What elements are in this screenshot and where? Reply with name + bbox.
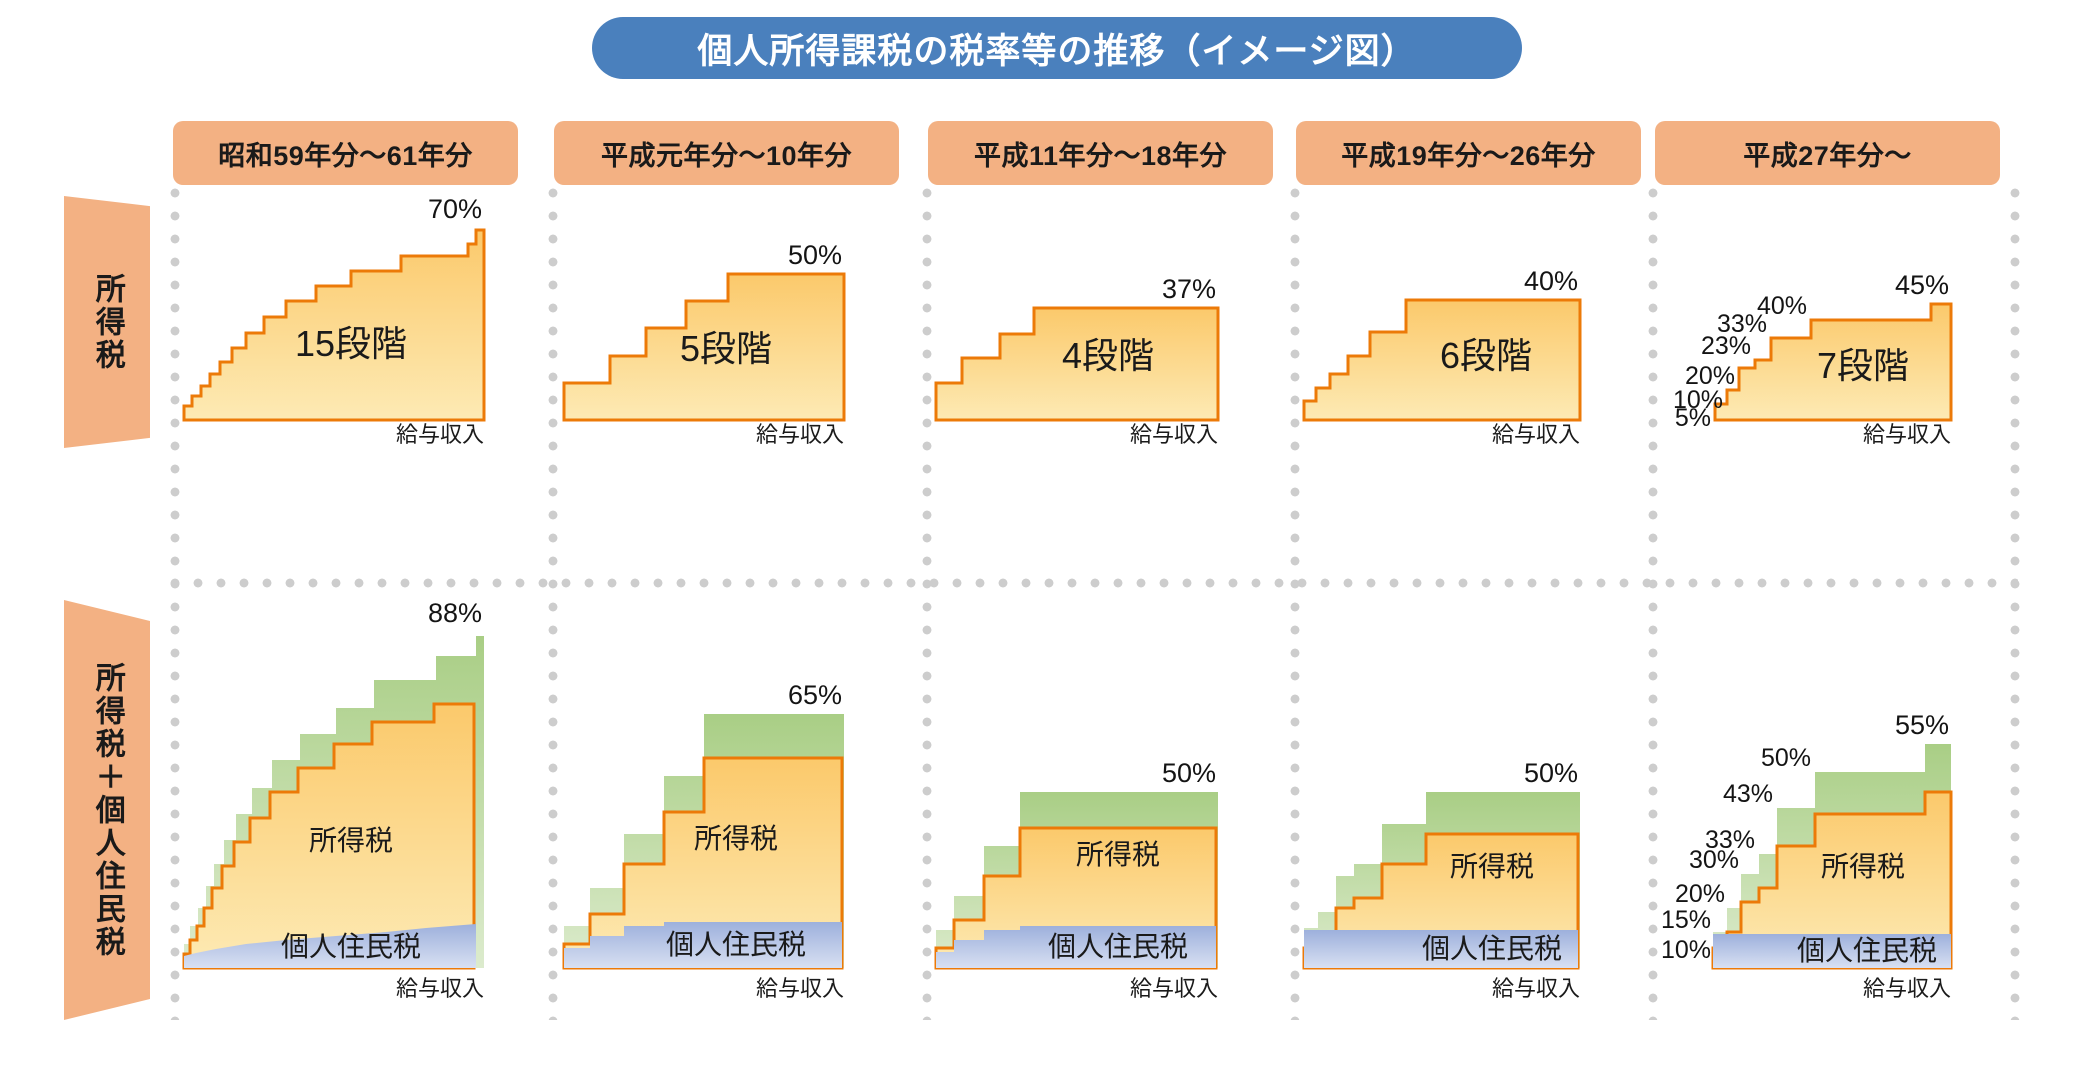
row-label-income-plus-resident-tax: 所得税＋個人住民税 (64, 600, 150, 1020)
income-tax-area-label: 所得税 (694, 823, 778, 854)
column-header-1-label: 昭和59年分〜61年分 (218, 134, 473, 173)
top-rate-label: 50% (1162, 758, 1216, 788)
rate-label-23: 23% (1701, 332, 1751, 360)
column-header-3-label: 平成11年分〜18年分 (974, 134, 1227, 173)
top-rate-label: 65% (788, 680, 842, 710)
rate-label-43: 43% (1723, 780, 1773, 808)
x-axis-label: 給与収入 (1492, 976, 1580, 1001)
column-header-1: 昭和59年分〜61年分 (173, 121, 518, 185)
chart-r1c3: 37% 4段階 給与収入 (928, 196, 1298, 446)
rate-label-20: 20% (1675, 880, 1725, 908)
top-rate-label: 50% (788, 240, 842, 270)
resident-tax-area-label: 個人住民税 (281, 931, 421, 962)
column-header-2: 平成元年分〜10年分 (554, 121, 899, 185)
x-axis-label: 給与収入 (396, 422, 484, 447)
row-label-income-plus-resident-tax-text: 所得税＋個人住民税 (91, 662, 123, 959)
x-axis-label: 給与収入 (1863, 422, 1951, 447)
bracket-count-label: 4段階 (1062, 335, 1154, 376)
column-header-2-label: 平成元年分〜10年分 (601, 134, 852, 173)
column-header-4: 平成19年分〜26年分 (1296, 121, 1641, 185)
x-axis-label: 給与収入 (756, 976, 844, 1001)
rate-label-30: 30% (1689, 846, 1739, 874)
x-axis-label: 給与収入 (396, 976, 484, 1001)
row-label-income-tax-text: 所得税 (91, 273, 123, 372)
top-rate-label: 37% (1162, 274, 1216, 304)
grid-divider-h-middle (170, 578, 2018, 588)
rate-label-10: 10% (1661, 936, 1711, 964)
x-axis-label: 給与収入 (1492, 422, 1580, 447)
x-axis-label: 給与収入 (756, 422, 844, 447)
chart-r2c5: 55% 50% 43% 33% 30% 20% 15% 10% 所得税 個人住民… (1655, 596, 2025, 1016)
rate-label-15: 15% (1661, 906, 1711, 934)
top-rate-label: 50% (1524, 758, 1578, 788)
rate-label-5: 5% (1675, 404, 1711, 432)
bracket-count-label: 7段階 (1817, 345, 1909, 386)
column-header-5: 平成27年分〜 (1655, 121, 2000, 185)
income-tax-area-label: 所得税 (1076, 839, 1160, 870)
column-header-5-label: 平成27年分〜 (1743, 134, 1912, 173)
bracket-count-label: 15段階 (295, 323, 407, 364)
resident-tax-area-label: 個人住民税 (1048, 931, 1188, 962)
resident-tax-area-label: 個人住民税 (1422, 933, 1562, 964)
resident-tax-area-label: 個人住民税 (666, 929, 806, 960)
chart-r2c2: 65% 所得税 個人住民税 給与収入 (556, 596, 926, 1016)
chart-r1c4: 40% 6段階 給与収入 (1296, 196, 1666, 446)
diagram-root: 個人所得課税の税率等の推移（イメージ図） 昭和59年分〜61年分 平成元年分〜1… (0, 0, 2076, 1069)
chart-r1c2: 50% 5段階 給与収入 (556, 196, 926, 446)
resident-tax-area-label: 個人住民税 (1797, 935, 1937, 966)
x-axis-label: 給与収入 (1130, 976, 1218, 1001)
rate-label-50: 50% (1761, 744, 1811, 772)
top-rate-label: 40% (1524, 266, 1578, 296)
x-axis-label: 給与収入 (1130, 422, 1218, 447)
chart-r2c1: 88% 所得税 個人住民税 給与収入 (176, 596, 546, 1016)
page-title-banner: 個人所得課税の税率等の推移（イメージ図） (592, 17, 1522, 79)
x-axis-label: 給与収入 (1863, 976, 1951, 1001)
chart-r1c1: 70% 15段階 給与収入 (176, 196, 546, 446)
top-rate-label: 88% (428, 598, 482, 628)
rate-label-55: 55% (1895, 710, 1949, 740)
column-header-4-label: 平成19年分〜26年分 (1341, 134, 1596, 173)
bracket-count-label: 6段階 (1440, 335, 1532, 376)
top-rate-label: 70% (428, 194, 482, 224)
bracket-count-label: 5段階 (680, 328, 772, 369)
income-tax-area-label: 所得税 (309, 825, 393, 856)
chart-r1c5: 45% 40% 33% 23% 20% 10% 5% 7段階 給与収入 (1655, 196, 2025, 446)
chart-r2c4: 50% 所得税 個人住民税 給与収入 (1296, 596, 1666, 1016)
chart-r2c3: 50% 所得税 個人住民税 給与収入 (928, 596, 1298, 1016)
column-header-3: 平成11年分〜18年分 (928, 121, 1273, 185)
page-title: 個人所得課税の税率等の推移（イメージ図） (697, 23, 1416, 74)
rate-label-45: 45% (1895, 270, 1949, 300)
row-label-income-tax: 所得税 (64, 196, 150, 448)
income-tax-area-label: 所得税 (1821, 851, 1905, 882)
income-tax-area-label: 所得税 (1450, 851, 1534, 882)
